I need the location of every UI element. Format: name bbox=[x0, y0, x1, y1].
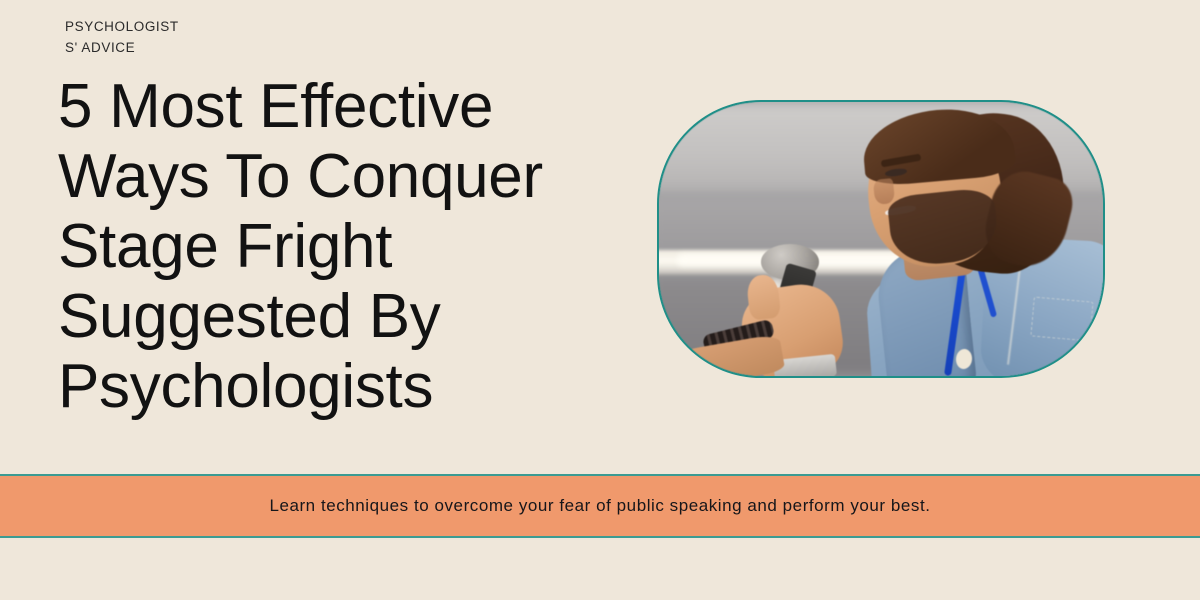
banner-caption: Learn techniques to overcome your fear o… bbox=[269, 496, 930, 516]
page-title: 5 Most Effective Ways To Conquer Stage F… bbox=[58, 72, 658, 422]
bottom-banner: Learn techniques to overcome your fear o… bbox=[0, 474, 1200, 538]
text-column: PSYCHOLOGISTS' ADVICE 5 Most Effective W… bbox=[58, 16, 658, 422]
photo-image bbox=[659, 102, 1103, 376]
poster-canvas: PSYCHOLOGISTS' ADVICE 5 Most Effective W… bbox=[0, 0, 1200, 600]
speaker-figure bbox=[659, 102, 1103, 376]
speaker-photo bbox=[657, 100, 1105, 378]
vest-pocket bbox=[1030, 297, 1093, 342]
raised-finger bbox=[746, 273, 781, 320]
eyebrow-label: PSYCHOLOGISTS' ADVICE bbox=[58, 16, 185, 58]
